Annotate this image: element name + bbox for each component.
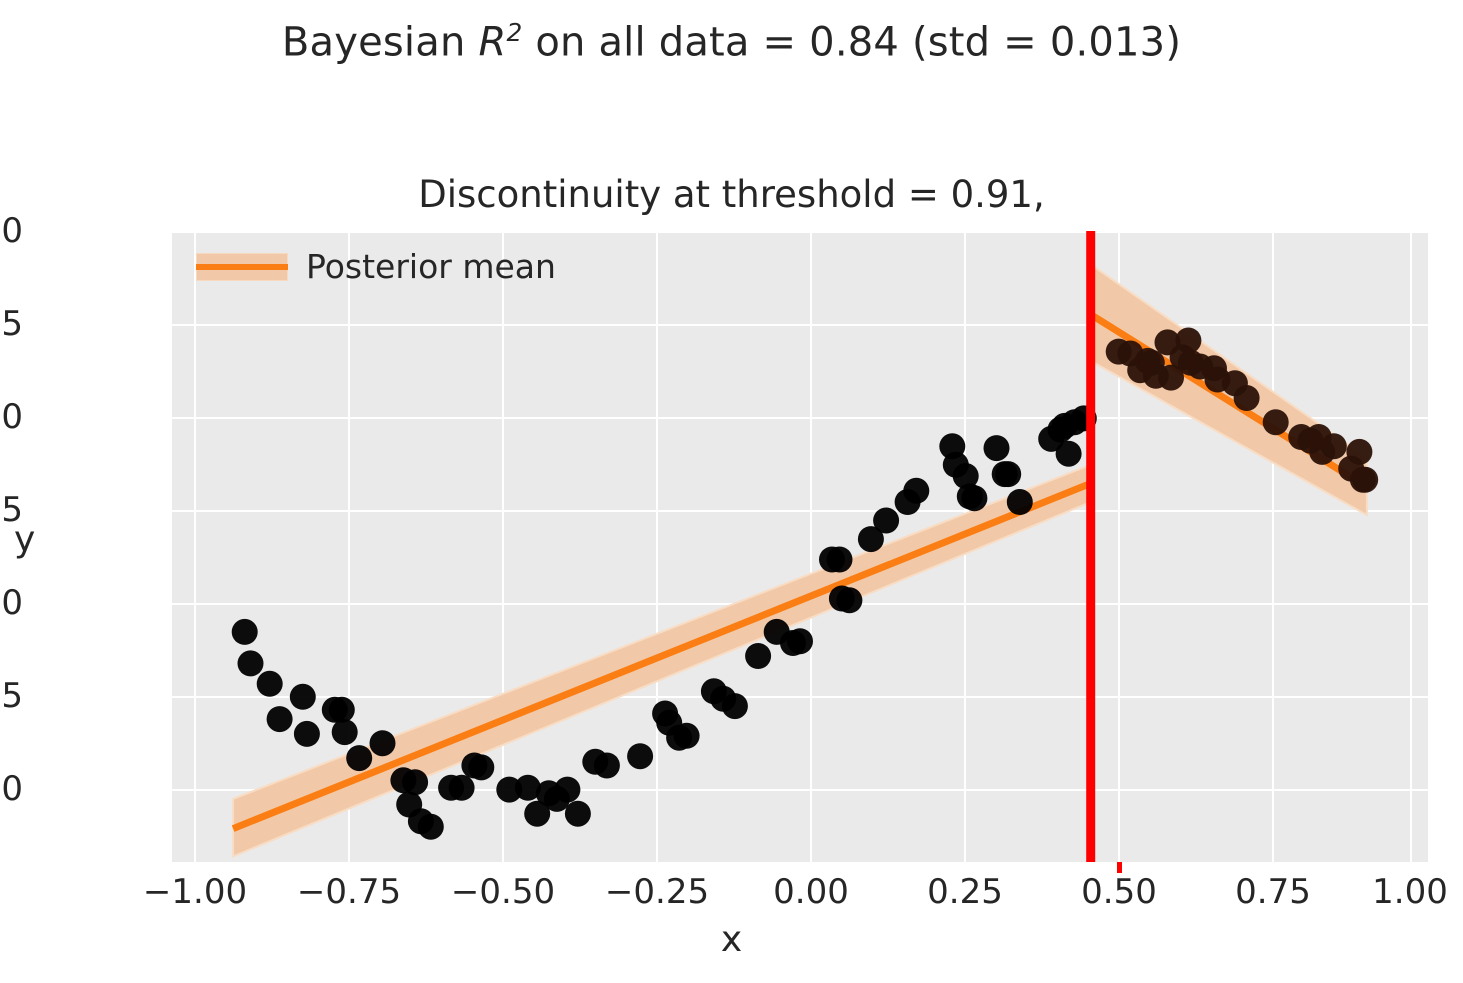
legend-swatch-posterior-mean	[196, 250, 288, 284]
y-tick-label: 0.0	[0, 583, 23, 623]
x-tick-label: 1.00	[1372, 872, 1448, 912]
y-tick-label: 2.0	[0, 211, 23, 251]
x-tick-label: −0.25	[605, 872, 709, 912]
legend-label: Posterior mean	[306, 247, 556, 286]
y-axis-label: y	[14, 519, 35, 560]
x-tick-label: 0.00	[773, 872, 849, 912]
figure-canvas: Bayesian R2 on all data = 0.84 (std = 0.…	[0, 0, 1463, 983]
subtitle-line-1: Discontinuity at threshold = 0.91,	[0, 171, 1463, 218]
chart-render-svg	[172, 231, 1428, 862]
suptitle-r-symbol: R	[478, 19, 506, 65]
x-tick-label: 0.75	[1235, 872, 1311, 912]
suptitle-prefix: Bayesian	[282, 19, 479, 65]
x-tick-label: 0.50	[1081, 872, 1157, 912]
x-tick-label: −1.00	[143, 872, 247, 912]
y-tick-label: 1.5	[0, 304, 23, 344]
y-tick-label: −1.0	[0, 769, 23, 809]
chart-legend[interactable]: Posterior mean	[186, 243, 566, 290]
threshold-tick-marker	[1117, 862, 1122, 873]
x-tick-label: 0.25	[927, 872, 1003, 912]
suptitle-exponent: 2	[506, 18, 522, 47]
legend-line-icon	[196, 264, 288, 270]
y-tick-label: 1.0	[0, 397, 23, 437]
suptitle-suffix: on all data = 0.84 (std = 0.013)	[522, 19, 1181, 65]
chart-suptitle: Bayesian R2 on all data = 0.84 (std = 0.…	[0, 18, 1463, 65]
x-tick-label: −0.50	[451, 872, 555, 912]
x-axis-label: x	[0, 919, 1463, 960]
y-tick-label: −0.5	[0, 676, 23, 716]
x-tick-label: −0.75	[297, 872, 401, 912]
plot-area: Posterior mean	[172, 231, 1428, 862]
